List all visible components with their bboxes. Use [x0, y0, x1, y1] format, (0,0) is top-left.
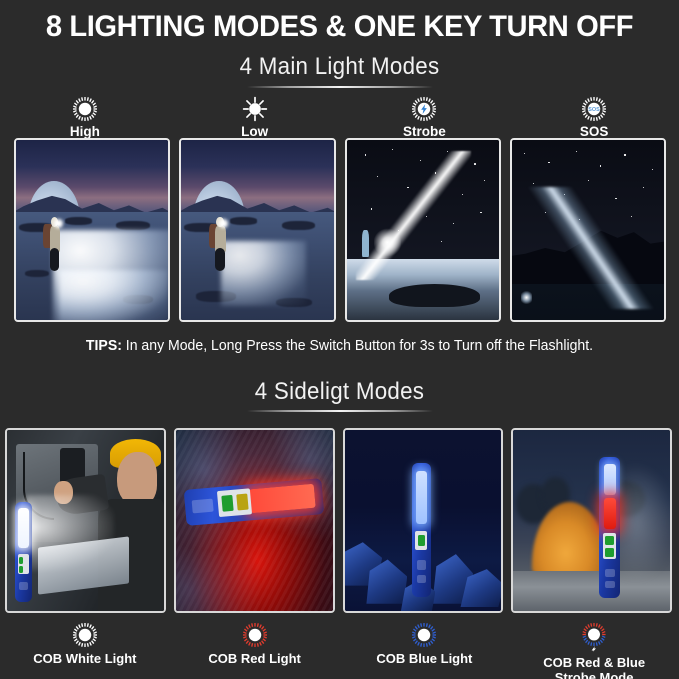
photo-low — [179, 138, 335, 322]
main-light-photo-row — [14, 138, 666, 322]
photo-cob-white — [5, 428, 166, 613]
mode-item-cob-red-blue-strobe: COB Red & Blue Strobe Mode — [509, 622, 679, 679]
tips-label: TIPS: — [86, 338, 122, 354]
sidelight-mode-labels: COB White Light — [0, 622, 679, 679]
page-title: 8 LIGHTING MODES & ONE KEY TURN OFF — [10, 10, 669, 44]
svg-text:SOS: SOS — [588, 107, 600, 113]
mode-item-high: High — [0, 96, 170, 139]
sun-burst-lightning-icon — [411, 96, 437, 122]
sun-burst-red-blue-strobe-icon — [579, 622, 609, 652]
tips-text: In any Mode, Long Press the Switch Butto… — [122, 338, 593, 354]
mode-label-cob-red: COB Red Light — [208, 651, 300, 666]
photo-sos — [510, 138, 666, 322]
mode-label-cob-blue: COB Blue Light — [376, 651, 472, 666]
mode-label-cob-red-blue-strobe: COB Red & Blue Strobe Mode — [543, 655, 645, 679]
divider-sidelight — [247, 410, 433, 412]
main-light-mode-labels: High Low — [0, 96, 679, 139]
sun-burst-white-icon — [72, 622, 98, 648]
photo-cob-red — [174, 428, 335, 613]
mode-item-cob-red: COB Red Light — [170, 622, 340, 679]
sun-burst-sos-icon: SOS — [581, 96, 607, 122]
mode-label-sos: SOS — [580, 124, 609, 139]
photo-cob-blue — [343, 428, 504, 613]
mode-item-sos: SOS SOS — [509, 96, 679, 139]
photo-strobe — [345, 138, 501, 322]
mode-label-strobe: Strobe — [403, 124, 446, 139]
mode-label-high: High — [70, 124, 100, 139]
device-cob-red-blue — [599, 457, 619, 598]
sun-burst-many-rays-icon — [72, 96, 98, 122]
mode-label-low: Low — [241, 124, 268, 139]
mode-item-cob-white: COB White Light — [0, 622, 170, 679]
sun-burst-blue-icon — [411, 622, 437, 648]
mode-item-cob-blue: COB Blue Light — [340, 622, 510, 679]
main-light-subtitle: 4 Main Light Modes — [24, 53, 655, 81]
sun-burst-red-icon — [242, 622, 268, 648]
sidelight-subtitle: 4 Sideligt Modes — [24, 378, 655, 406]
device-cob-white — [15, 502, 32, 602]
tips-line: TIPS: In any Mode, Long Press the Switch… — [10, 338, 669, 354]
mode-label-cob-white: COB White Light — [33, 651, 136, 666]
product-infographic: 8 LIGHTING MODES & ONE KEY TURN OFF 4 Ma… — [0, 0, 679, 679]
photo-cob-red-blue-strobe — [511, 428, 672, 613]
divider-main-light — [247, 86, 433, 88]
sun-few-rays-icon — [242, 96, 268, 122]
sidelight-photo-row — [5, 428, 672, 613]
device-cob-blue — [412, 463, 431, 597]
mode-item-low: Low — [170, 96, 340, 139]
photo-high — [14, 138, 170, 322]
mode-item-strobe: Strobe — [340, 96, 510, 139]
